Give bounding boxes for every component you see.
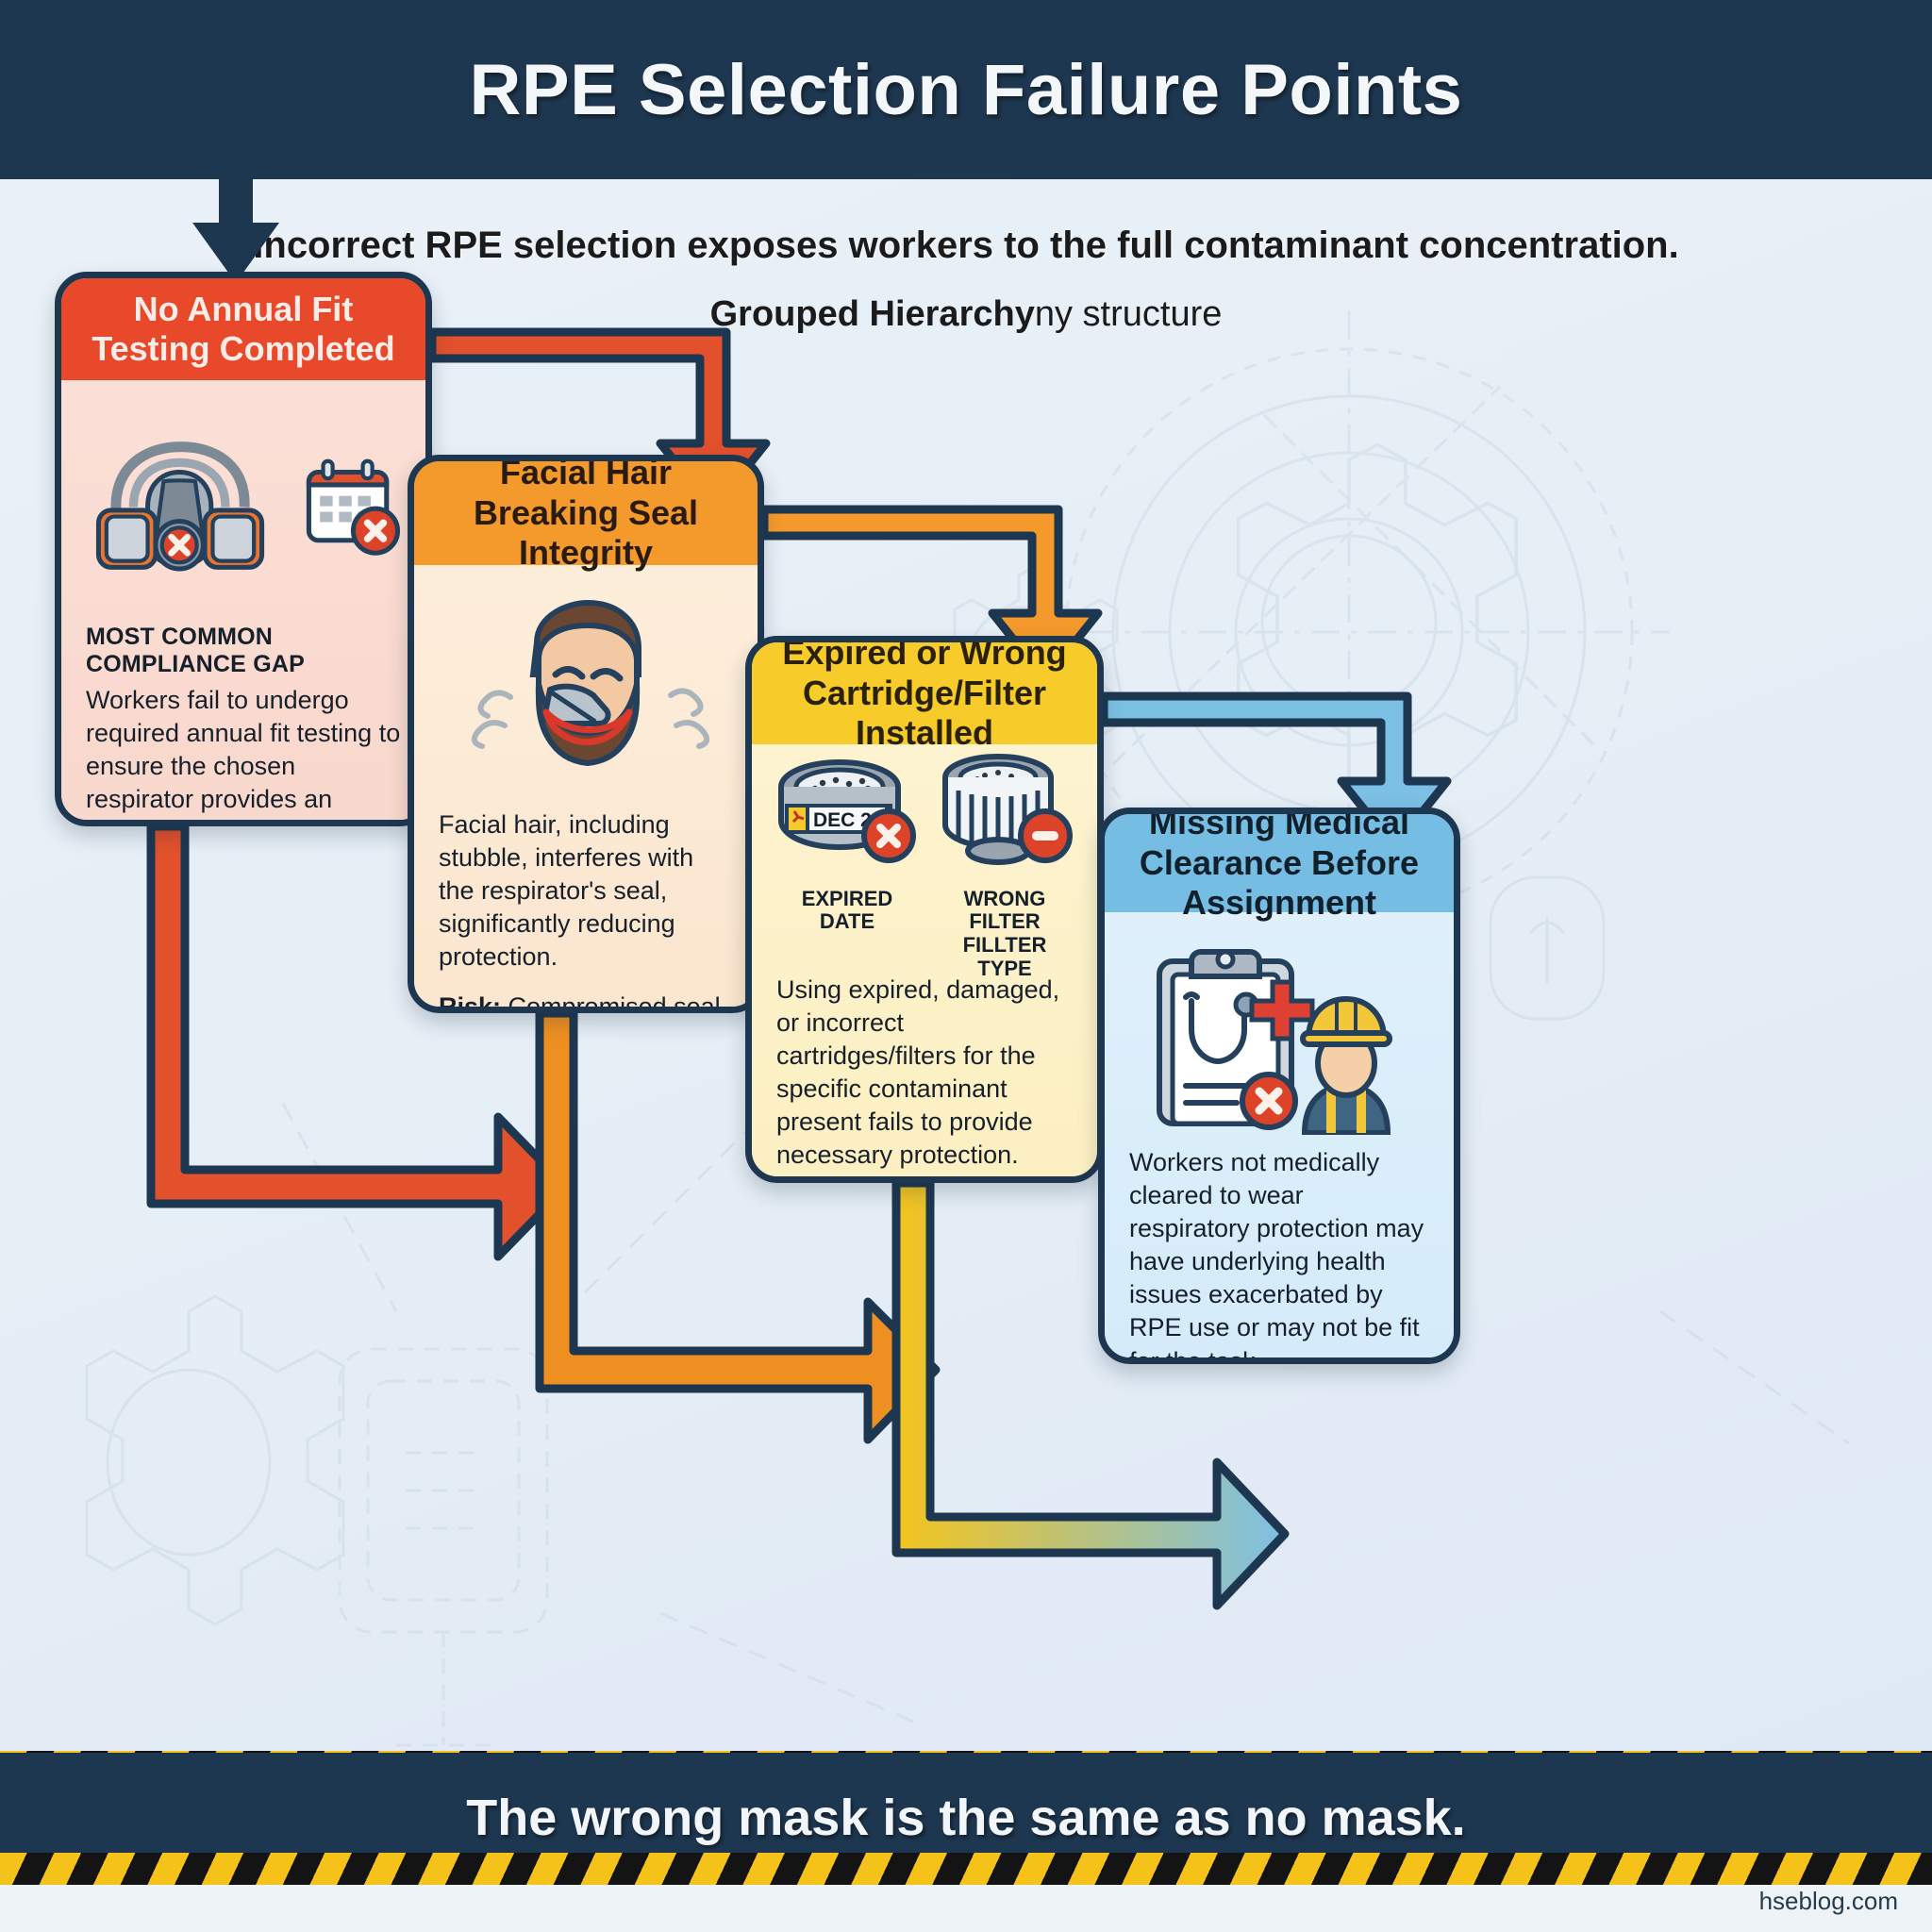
wrong-filter-icon xyxy=(934,753,1075,877)
card1-description: Workers fail to undergo required annual … xyxy=(86,684,401,826)
card1-icon-group xyxy=(86,401,401,618)
worker-hardhat-icon xyxy=(1303,999,1390,1133)
card2-description: Facial hair, including stubble, interfer… xyxy=(439,808,733,974)
card3-description: Using expired, damaged, or incorrect car… xyxy=(776,974,1073,1173)
failure-card-no-fit-testing[interactable]: No Annual Fit Testing Completed xyxy=(55,272,432,826)
card2-risk-label: Risk: xyxy=(439,992,501,1013)
card3-body: DEC 2023 EXPIRED DATE xyxy=(752,744,1097,1176)
header-bar: RPE Selection Failure Points xyxy=(0,0,1932,179)
failure-card-medical-clearance[interactable]: Missing Medical Clearance Before Assignm… xyxy=(1098,808,1460,1364)
card2-icon-group xyxy=(439,586,733,803)
card1-body: MOST COMMON COMPLIANCE GAP Workers fail … xyxy=(61,380,425,820)
expired-caption: EXPIRED DATE xyxy=(774,888,921,934)
expired-caption-line1: EXPIRED xyxy=(774,888,921,911)
footer-tagline: The wrong mask is the same as no mask. xyxy=(466,1789,1465,1847)
respirator-mask-icon xyxy=(86,420,284,599)
card4-icon-group xyxy=(1129,933,1429,1141)
card1-title: No Annual Fit Testing Completed xyxy=(61,278,425,380)
card2-risk: Risk: Compromised seal allows contaminan… xyxy=(439,991,733,1013)
intro-subtitle-bold: Grouped Hierarchy xyxy=(710,294,1035,334)
intro-statement: Incorrect RPE selection exposes workers … xyxy=(0,225,1932,267)
page-title: RPE Selection Failure Points xyxy=(470,49,1463,131)
infographic-canvas: RPE Selection Failure Points Incorrect R… xyxy=(0,0,1932,1932)
card4-body: Workers not medically cleared to wear re… xyxy=(1105,912,1454,1357)
failure-card-facial-hair[interactable]: Facial Hair Breaking Seal Integrity xyxy=(408,455,764,1013)
expired-cartridge-icon: DEC 2023 xyxy=(774,753,921,877)
wrong-filter-caption-line1: WRONG FILTER xyxy=(934,888,1075,934)
card1-eyebrow: MOST COMMON COMPLIANCE GAP xyxy=(86,624,401,678)
wrong-filter-block: WRONG FILTER FILLTER TYPE xyxy=(934,753,1075,981)
bearded-face-mask-icon xyxy=(444,593,727,796)
card4-title: Missing Medical Clearance Before Assignm… xyxy=(1105,814,1454,912)
card2-body: Facial hair, including stubble, interfer… xyxy=(414,565,758,1007)
card3-icon-captions: DEC 2023 EXPIRED DATE xyxy=(774,753,1075,981)
expired-caption-line2: DATE xyxy=(774,910,921,934)
card4-description: Workers not medically cleared to wear re… xyxy=(1129,1146,1429,1364)
wrong-filter-caption: WRONG FILTER FILLTER TYPE xyxy=(934,888,1075,981)
site-credit: hseblog.com xyxy=(1759,1887,1898,1916)
card3-title: Expired or Wrong Cartridge/Filter Instal… xyxy=(752,642,1097,744)
card2-title: Facial Hair Breaking Seal Integrity xyxy=(414,461,758,565)
hazard-stripe-bottom xyxy=(0,1853,1932,1885)
intro-subtitle-regular: ny structure xyxy=(1035,294,1223,334)
failure-card-expired-cartridge[interactable]: Expired or Wrong Cartridge/Filter Instal… xyxy=(745,636,1104,1183)
card3-icon-group: DEC 2023 EXPIRED DATE xyxy=(776,765,1073,968)
expired-cartridge-block: DEC 2023 EXPIRED DATE xyxy=(774,753,921,934)
medical-clipboard-icon xyxy=(1142,939,1416,1135)
calendar-x-icon xyxy=(301,448,401,571)
